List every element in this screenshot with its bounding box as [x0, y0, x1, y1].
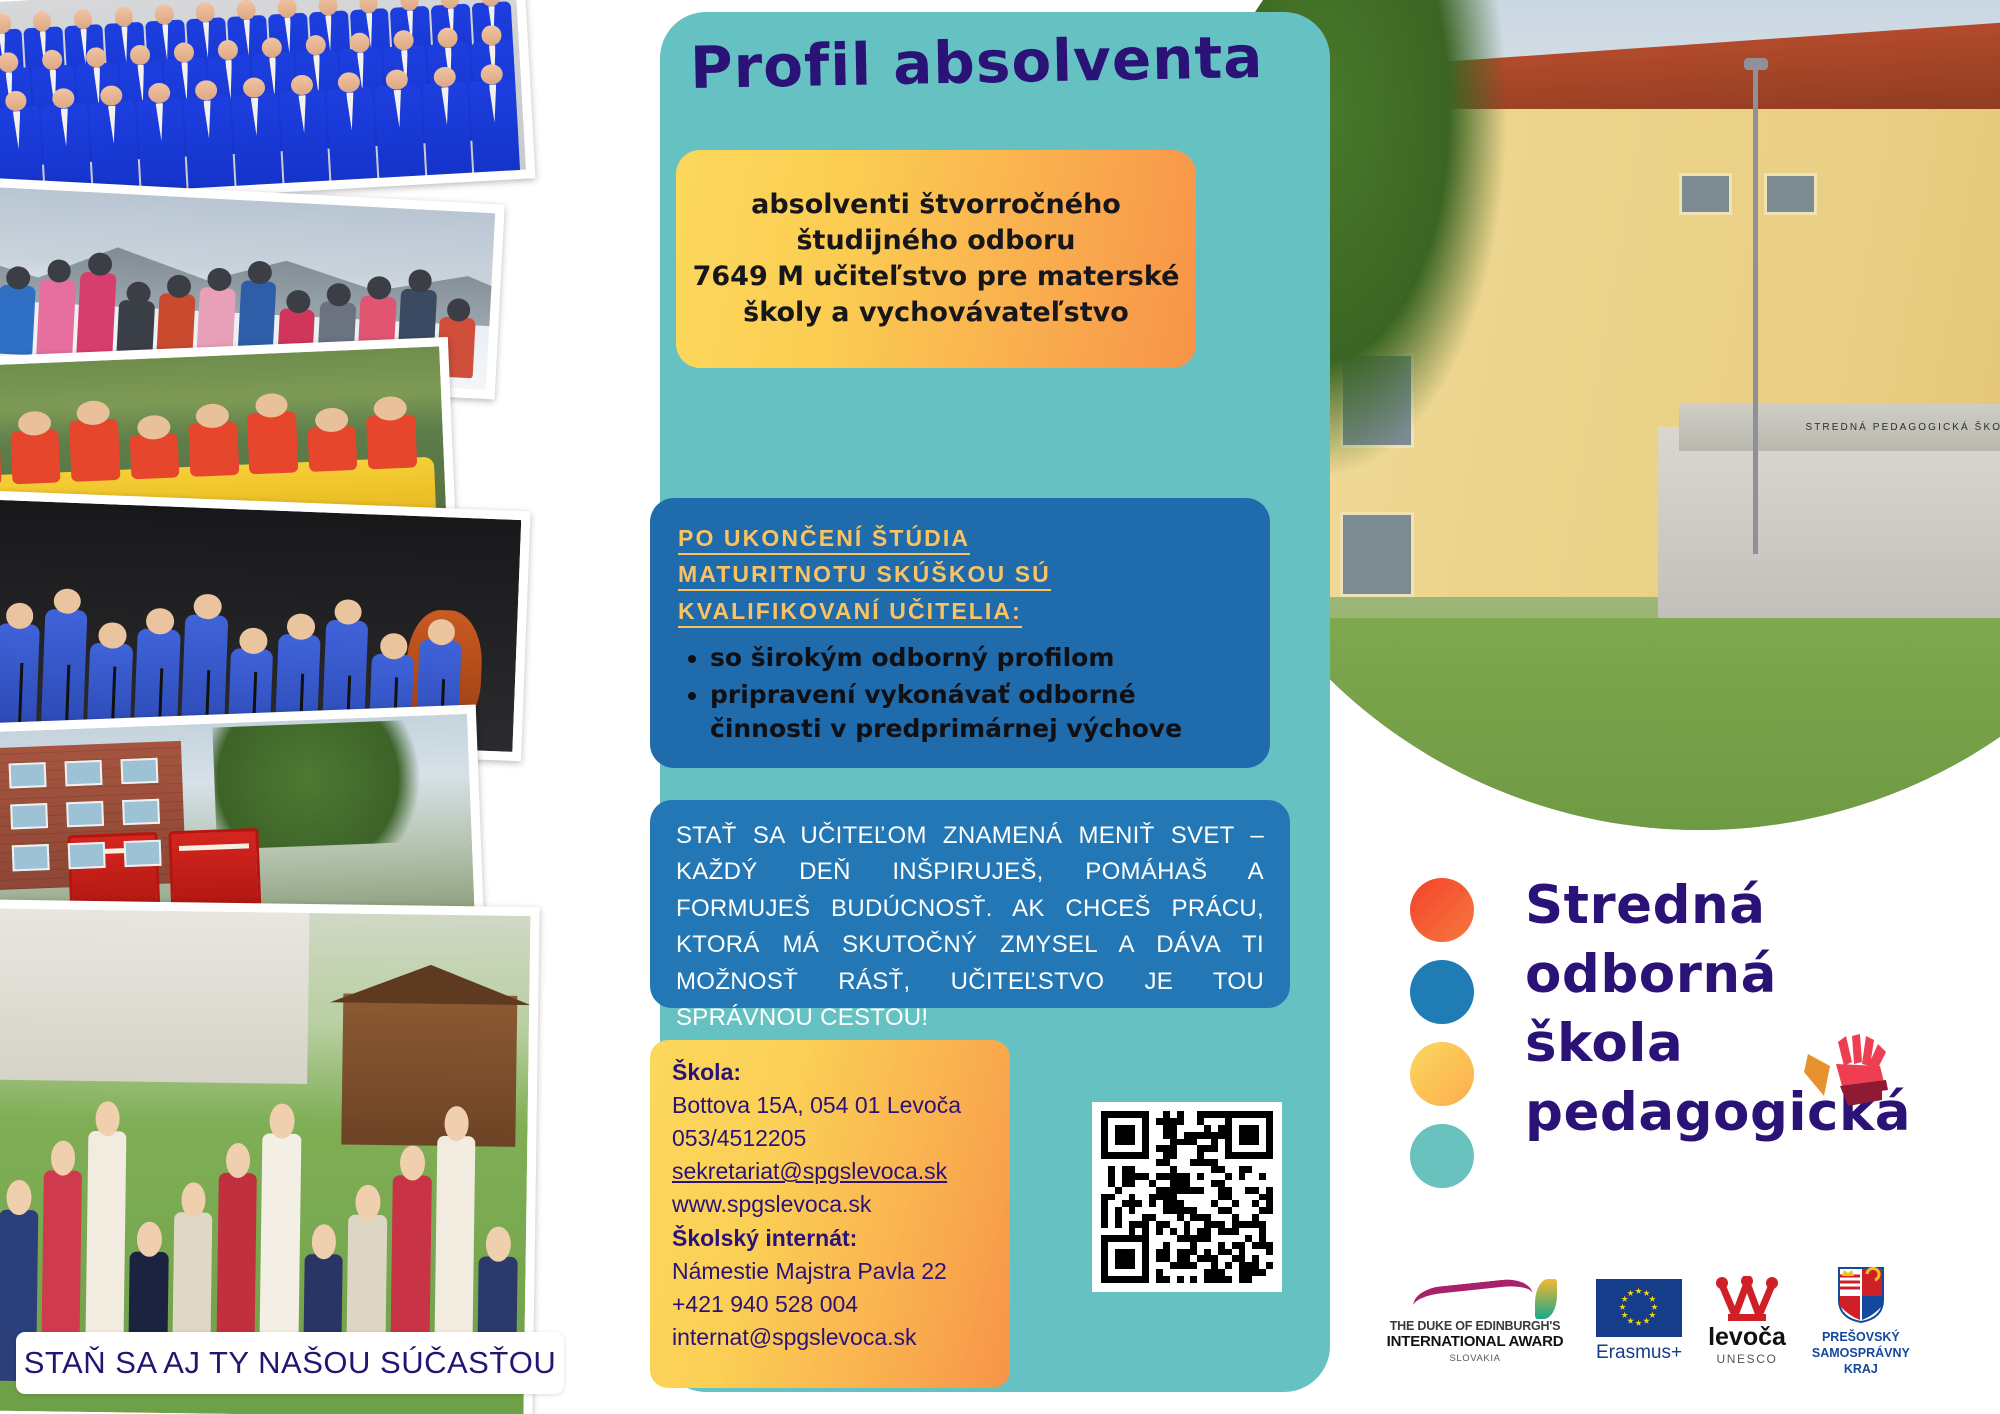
qr-cell [1108, 1214, 1115, 1221]
qr-cell [1156, 1235, 1163, 1242]
qr-cell [1197, 1200, 1204, 1207]
qr-cell [1170, 1269, 1177, 1276]
qr-cell [1101, 1200, 1108, 1207]
qr-cell [1197, 1269, 1204, 1276]
qr-cell [1232, 1276, 1239, 1283]
qr-cell [1232, 1139, 1239, 1146]
qr-cell [1245, 1207, 1252, 1214]
qr-cell [1197, 1276, 1204, 1283]
qr-cell [1259, 1173, 1266, 1180]
qr-cell [1225, 1276, 1232, 1283]
school-label: Škola: [672, 1056, 988, 1089]
qr-cell [1115, 1242, 1122, 1249]
qr-cell [1170, 1214, 1177, 1221]
qr-cell [1108, 1139, 1115, 1146]
qr-cell [1177, 1152, 1184, 1159]
qr-cell [1252, 1166, 1259, 1173]
qr-cell [1204, 1118, 1211, 1125]
qr-cell [1252, 1228, 1259, 1235]
qr-cell [1225, 1132, 1232, 1139]
qr-cell [1211, 1125, 1218, 1132]
dorm-label: Školský internát: [672, 1222, 988, 1255]
qr-cell [1122, 1180, 1129, 1187]
qr-cell [1101, 1249, 1108, 1256]
qr-cell [1108, 1132, 1115, 1139]
qr-cell [1129, 1262, 1136, 1269]
qr-cell [1156, 1152, 1163, 1159]
qr-cell [1211, 1200, 1218, 1207]
qr-cell [1170, 1207, 1177, 1214]
qr-cell [1129, 1118, 1136, 1125]
qr-cell [1259, 1152, 1266, 1159]
qr-cell [1163, 1111, 1170, 1118]
qr-cell [1204, 1242, 1211, 1249]
qr-cell [1108, 1269, 1115, 1276]
qr-cell [1218, 1145, 1225, 1152]
qr-cell [1170, 1180, 1177, 1187]
qr-cell [1170, 1221, 1177, 1228]
qr-cell [1177, 1262, 1184, 1269]
qr-cell [1239, 1228, 1246, 1235]
qr-cell [1266, 1221, 1273, 1228]
qr-cell [1142, 1214, 1149, 1221]
qr-cell [1225, 1242, 1232, 1249]
qr-cell [1101, 1118, 1108, 1125]
qr-cell [1177, 1235, 1184, 1242]
highlight-line-1: študijného odboru [796, 223, 1075, 259]
page-title: Profil absolventa [689, 22, 1310, 102]
qr-cell [1149, 1228, 1156, 1235]
highlight-line-2: 7649 M učiteľstvo pre materské [693, 259, 1180, 295]
qr-cell [1129, 1242, 1136, 1249]
qr-cell [1170, 1255, 1177, 1262]
qr-cell [1184, 1249, 1191, 1256]
qr-cell [1156, 1249, 1163, 1256]
qr-cell [1245, 1269, 1252, 1276]
qr-cell [1184, 1111, 1191, 1118]
eu-star [1619, 1304, 1626, 1311]
qr-cell [1129, 1132, 1136, 1139]
qr-cell [1156, 1262, 1163, 1269]
qr-cell [1211, 1145, 1218, 1152]
qr-cell [1115, 1118, 1122, 1125]
qr-cell [1259, 1118, 1266, 1125]
qr-cell [1177, 1125, 1184, 1132]
qr-cell [1225, 1200, 1232, 1207]
qr-cell [1101, 1235, 1108, 1242]
qr-cell [1115, 1207, 1122, 1214]
qr-cell [1252, 1187, 1259, 1194]
qr-cell [1218, 1139, 1225, 1146]
qr-cell [1115, 1194, 1122, 1201]
qr-cell [1108, 1255, 1115, 1262]
qr-cell [1197, 1125, 1204, 1132]
qr-cell [1266, 1166, 1273, 1173]
dorm-phone[interactable]: +421 940 528 004 [672, 1288, 988, 1321]
qr-cell [1225, 1249, 1232, 1256]
qr-cell [1259, 1145, 1266, 1152]
qr-cell [1197, 1159, 1204, 1166]
qr-cell [1245, 1228, 1252, 1235]
qr-cell [1239, 1255, 1246, 1262]
qr-cell [1115, 1228, 1122, 1235]
eu-star [1643, 1317, 1650, 1324]
qr-cell [1177, 1249, 1184, 1256]
qr-cell [1122, 1159, 1129, 1166]
qr-cell [1142, 1255, 1149, 1262]
qr-cell [1156, 1200, 1163, 1207]
qr-cell [1184, 1200, 1191, 1207]
brand-dot-2 [1410, 1042, 1474, 1106]
qr-cell [1252, 1132, 1259, 1139]
school-website[interactable]: www.spgslevoca.sk [672, 1188, 988, 1221]
qr-cell [1170, 1118, 1177, 1125]
qr-cell [1149, 1118, 1156, 1125]
qr-cell [1266, 1180, 1273, 1187]
qr-cell [1245, 1214, 1252, 1221]
qr-cell [1156, 1145, 1163, 1152]
qr-cell [1156, 1111, 1163, 1118]
qr-cell [1259, 1194, 1266, 1201]
qr-cell [1115, 1249, 1122, 1256]
qr-cell [1170, 1166, 1177, 1173]
qr-cell [1204, 1235, 1211, 1242]
qr-cell [1197, 1228, 1204, 1235]
qr-cell [1266, 1173, 1273, 1180]
photo-choir [0, 0, 536, 212]
qr-cell [1177, 1228, 1184, 1235]
qr-cell [1156, 1269, 1163, 1276]
qr-cell [1149, 1139, 1156, 1146]
eu-star [1649, 1312, 1656, 1319]
qr-cell [1135, 1194, 1142, 1201]
qr-cell [1149, 1207, 1156, 1214]
qr-cell [1197, 1152, 1204, 1159]
qr-cell [1135, 1173, 1142, 1180]
school-phone[interactable]: 053/4512205 [672, 1122, 988, 1155]
qr-cell [1129, 1159, 1136, 1166]
logo-duke-of-edinburgh: THE DUKE OF EDINBURGH'S INTERNATIONAL AW… [1380, 1279, 1570, 1364]
qr-cell [1266, 1255, 1273, 1262]
qr-cell [1204, 1145, 1211, 1152]
qr-cell [1135, 1255, 1142, 1262]
qr-cell [1245, 1159, 1252, 1166]
qr-cell [1129, 1111, 1136, 1118]
brand-dot-1 [1410, 960, 1474, 1024]
qr-cell [1204, 1249, 1211, 1256]
brand-word-1: odborná [1525, 941, 1965, 1010]
bottom-banner-text: STAŇ SA AJ TY NAŠOU SÚČASŤOU [24, 1345, 557, 1381]
qr-cell [1252, 1173, 1259, 1180]
qr-cell [1135, 1180, 1142, 1187]
qr-cell [1211, 1262, 1218, 1269]
qr-cell [1149, 1242, 1156, 1249]
qr-cell [1170, 1235, 1177, 1242]
qr-cell [1239, 1125, 1246, 1132]
qr-cell [1225, 1194, 1232, 1201]
qr-cell [1135, 1214, 1142, 1221]
dorm-email[interactable]: internat@spgslevoca.sk [672, 1321, 988, 1354]
qr-cell [1266, 1111, 1273, 1118]
qr-cell [1252, 1118, 1259, 1125]
qr-cell [1239, 1221, 1246, 1228]
qr-cell [1156, 1166, 1163, 1173]
qr-cell [1129, 1255, 1136, 1262]
qr-cell [1239, 1207, 1246, 1214]
qr-cell [1135, 1118, 1142, 1125]
qr-cell [1245, 1152, 1252, 1159]
qr-cell [1184, 1145, 1191, 1152]
qr-cell [1259, 1262, 1266, 1269]
qr-cell [1245, 1194, 1252, 1201]
qr-cell [1149, 1132, 1156, 1139]
qr-cell [1184, 1118, 1191, 1125]
qr-cell [1135, 1242, 1142, 1249]
qr-cell [1156, 1125, 1163, 1132]
qr-cell [1204, 1255, 1211, 1262]
qr-cell [1218, 1187, 1225, 1194]
qr-cell [1225, 1180, 1232, 1187]
qr-cell [1204, 1180, 1211, 1187]
qr-cell [1259, 1242, 1266, 1249]
school-address: Bottova 15A, 054 01 Levoča [672, 1089, 988, 1122]
qr-cell [1211, 1214, 1218, 1221]
qr-cell [1232, 1187, 1239, 1194]
qr-cell [1190, 1173, 1197, 1180]
qr-cell [1232, 1159, 1239, 1166]
qr-cell [1142, 1249, 1149, 1256]
qr-cell [1177, 1111, 1184, 1118]
qr-cell [1129, 1180, 1136, 1187]
qr-cell [1163, 1262, 1170, 1269]
list-item: so širokým odborný profilom [710, 641, 1242, 675]
qr-cell [1184, 1125, 1191, 1132]
qr-cell [1232, 1152, 1239, 1159]
qr-cell [1149, 1145, 1156, 1152]
qr-cell [1142, 1194, 1149, 1201]
qr-cell [1156, 1228, 1163, 1235]
qr-cell [1252, 1269, 1259, 1276]
qr-cell [1115, 1187, 1122, 1194]
duke-swoosh-icon [1385, 1279, 1565, 1319]
qr-cell [1129, 1125, 1136, 1132]
qr-cell [1259, 1159, 1266, 1166]
qr-cell [1115, 1200, 1122, 1207]
duke-line-1: THE DUKE OF EDINBURGH'S [1390, 1319, 1561, 1333]
qr-cell [1142, 1200, 1149, 1207]
qr-cell [1211, 1255, 1218, 1262]
qr-cell [1101, 1228, 1108, 1235]
qr-cell [1204, 1132, 1211, 1139]
qr-cell [1252, 1194, 1259, 1201]
qr-cell [1266, 1132, 1273, 1139]
qr-cell [1218, 1228, 1225, 1235]
qr-cell [1245, 1166, 1252, 1173]
qr-code[interactable] [1092, 1102, 1282, 1292]
qr-cell [1163, 1180, 1170, 1187]
qr-cell [1232, 1125, 1239, 1132]
qr-cell [1266, 1276, 1273, 1283]
qr-cell [1149, 1249, 1156, 1256]
qr-cell [1184, 1187, 1191, 1194]
psk-text: PREŠOVSKÝ SAMOSPRÁVNY KRAJ [1812, 1329, 1910, 1377]
qr-cell [1239, 1200, 1246, 1207]
brand-dot-0 [1410, 878, 1474, 942]
qr-cell [1122, 1207, 1129, 1214]
qr-cell [1252, 1235, 1259, 1242]
qualification-heading-line-2: KVALIFIKOVANÍ UČITELIA: [678, 598, 1022, 628]
qr-cell [1232, 1214, 1239, 1221]
qr-cell [1239, 1159, 1246, 1166]
qr-cell [1149, 1221, 1156, 1228]
qr-cell [1149, 1235, 1156, 1242]
dorm-address: Námestie Majstra Pavla 22 [672, 1255, 988, 1288]
qr-cell [1129, 1228, 1136, 1235]
highlight-card: absolventi štvorročného študijného odbor… [676, 150, 1196, 368]
qr-cell [1239, 1187, 1246, 1194]
qr-cell [1204, 1200, 1211, 1207]
quote-card: STAŤ SA UČITEĽOM ZNAMENÁ MENIŤ SVET – KA… [650, 800, 1290, 1008]
qr-cell [1252, 1145, 1259, 1152]
qr-cell [1108, 1118, 1115, 1125]
qr-cell [1177, 1118, 1184, 1125]
qr-cell [1170, 1276, 1177, 1283]
qr-cell [1225, 1214, 1232, 1221]
qr-cell [1259, 1139, 1266, 1146]
qr-cell [1163, 1200, 1170, 1207]
qr-cell [1245, 1200, 1252, 1207]
qr-cell [1142, 1242, 1149, 1249]
qr-cell [1184, 1139, 1191, 1146]
qr-cell [1122, 1152, 1129, 1159]
qr-cell [1122, 1262, 1129, 1269]
qr-cell [1266, 1145, 1273, 1152]
qr-cell [1197, 1180, 1204, 1187]
qr-cell [1239, 1166, 1246, 1173]
qr-cell [1245, 1235, 1252, 1242]
qr-cell [1135, 1235, 1142, 1242]
qr-cell [1101, 1132, 1108, 1139]
qr-cell [1197, 1221, 1204, 1228]
qr-cell [1197, 1249, 1204, 1256]
qr-cell [1115, 1125, 1122, 1132]
qr-cell [1218, 1214, 1225, 1221]
qr-cell [1239, 1249, 1246, 1256]
qr-cell [1122, 1214, 1129, 1221]
qr-cell [1135, 1276, 1142, 1283]
logo-erasmus-plus: Erasmus+ [1596, 1279, 1682, 1364]
qr-cell [1266, 1207, 1273, 1214]
qr-cell [1177, 1187, 1184, 1194]
qr-cell [1142, 1132, 1149, 1139]
qr-cell [1177, 1132, 1184, 1139]
qr-cell [1197, 1187, 1204, 1194]
qr-cell [1163, 1255, 1170, 1262]
qr-cell [1170, 1173, 1177, 1180]
qr-cell [1163, 1125, 1170, 1132]
qr-cell [1190, 1152, 1197, 1159]
qr-cell [1184, 1255, 1191, 1262]
qr-cell [1122, 1235, 1129, 1242]
qr-cell [1170, 1125, 1177, 1132]
qr-cell [1149, 1214, 1156, 1221]
qr-cell [1149, 1180, 1156, 1187]
duke-line-3: SLOVAKIA [1449, 1353, 1500, 1364]
qr-cell [1170, 1145, 1177, 1152]
qr-cell [1252, 1249, 1259, 1256]
qr-cell [1190, 1262, 1197, 1269]
qr-cell [1101, 1214, 1108, 1221]
qr-cell [1204, 1262, 1211, 1269]
qr-cell [1170, 1242, 1177, 1249]
qr-cell [1190, 1187, 1197, 1194]
bottom-banner: STAŇ SA AJ TY NAŠOU SÚČASŤOU [16, 1332, 564, 1394]
qr-cell [1135, 1152, 1142, 1159]
qr-cell [1252, 1180, 1259, 1187]
qr-cell [1142, 1187, 1149, 1194]
qr-cell [1259, 1200, 1266, 1207]
qr-cell [1177, 1255, 1184, 1262]
qr-cell [1184, 1159, 1191, 1166]
qr-cell [1156, 1207, 1163, 1214]
qr-cell [1163, 1269, 1170, 1276]
qr-cell [1266, 1118, 1273, 1125]
qr-cell [1197, 1173, 1204, 1180]
qr-cell [1142, 1207, 1149, 1214]
qr-cell [1225, 1173, 1232, 1180]
qr-cell [1239, 1242, 1246, 1249]
qr-cell [1149, 1276, 1156, 1283]
qr-cell [1101, 1194, 1108, 1201]
qr-cell [1101, 1276, 1108, 1283]
qr-cell [1184, 1132, 1191, 1139]
qr-cell [1115, 1180, 1122, 1187]
qr-cell [1204, 1194, 1211, 1201]
qr-cell [1142, 1180, 1149, 1187]
qr-cell [1135, 1166, 1142, 1173]
qr-cell [1170, 1194, 1177, 1201]
qr-cell [1211, 1111, 1218, 1118]
qr-cell [1177, 1173, 1184, 1180]
qr-cell [1101, 1145, 1108, 1152]
qr-cell [1122, 1111, 1129, 1118]
qr-cell [1115, 1139, 1122, 1146]
qr-cell [1163, 1152, 1170, 1159]
qr-cell [1218, 1249, 1225, 1256]
qr-cell [1232, 1166, 1239, 1173]
qr-cell [1239, 1269, 1246, 1276]
qr-cell [1259, 1255, 1266, 1262]
qr-cell [1259, 1125, 1266, 1132]
school-email[interactable]: sekretariat@spgslevoca.sk [672, 1155, 988, 1188]
qr-cell [1232, 1249, 1239, 1256]
qr-cell [1232, 1180, 1239, 1187]
qr-cell [1218, 1200, 1225, 1207]
qr-cell [1177, 1145, 1184, 1152]
qr-cell [1177, 1276, 1184, 1283]
qr-cell [1108, 1111, 1115, 1118]
qr-cell [1245, 1132, 1252, 1139]
qr-cell [1266, 1235, 1273, 1242]
qr-cell [1197, 1132, 1204, 1139]
qr-cell [1218, 1173, 1225, 1180]
eu-star [1651, 1304, 1658, 1311]
qr-cell [1170, 1228, 1177, 1235]
qr-cell [1211, 1269, 1218, 1276]
qr-cell [1190, 1249, 1197, 1256]
qr-cell [1156, 1187, 1163, 1194]
qr-cell [1163, 1235, 1170, 1242]
